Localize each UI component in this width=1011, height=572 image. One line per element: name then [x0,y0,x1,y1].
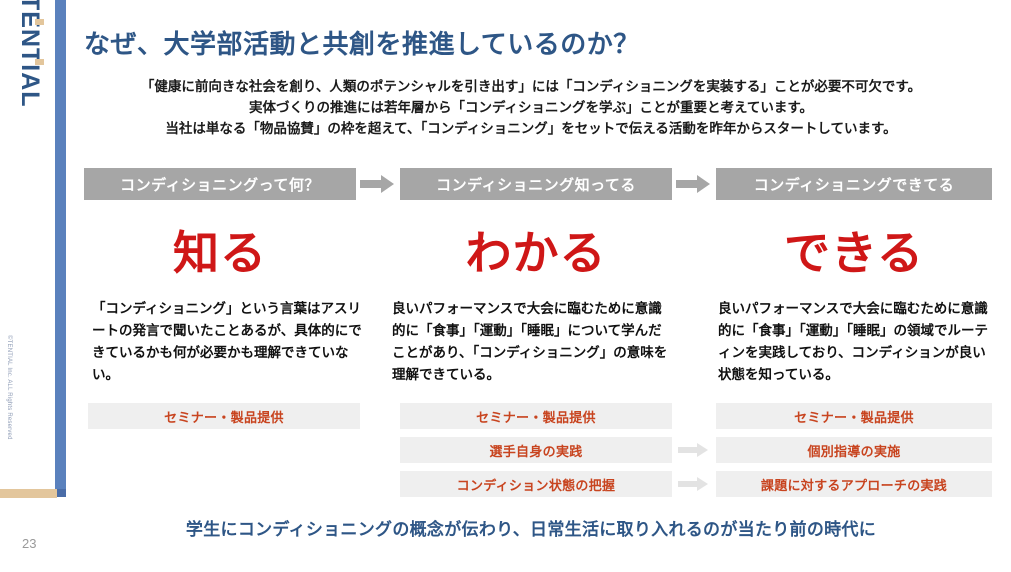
action-arrow-2-icon [678,477,708,491]
tential-logo: TENTIAL [12,0,48,91]
slide-canvas: TENTIAL ©TENTIAL Inc. ALL Rights Reserve… [0,0,1011,572]
action-box: 選手自身の実践 [400,437,672,463]
stage-bar-can-do: コンディショニングできてる [716,168,992,200]
action-box: コンディション状態の把握 [400,471,672,497]
stage-bar-know-what: コンディショニングって何？ [84,168,356,200]
conclusion-text: 学生にコンディショニングの概念が伝わり、日常生活に取り入れるのが当たり前の時代に [66,515,996,540]
column-heading-dekiru: できる [716,225,992,281]
lead-line: 当社は単なる「物品協賛」の枠を超えて、「コンディショニング」をセットで伝える活動… [66,118,996,139]
action-box-label: コンディション状態の把握 [457,475,616,494]
stage-bar-label: コンディショニングできてる [754,174,954,195]
column-heading-shiru: 知る [84,225,356,281]
column-heading-wakaru: わかる [400,225,672,281]
column-description-1: 「コンディショニング」という言葉はアスリートの発言で聞いたことあるが、具体的にで… [92,298,364,386]
lead-line: 「健康に前向きな社会を創り、人類のポテンシャルを引き出す」には「コンディショニン… [66,76,996,97]
action-box: セミナー・製品提供 [400,403,672,429]
page-title: なぜ、大学部活動と共創を推進しているのか？ [84,24,640,61]
action-box-label: セミナー・製品提供 [794,407,914,426]
stage-bar-label: コンディショニングって何？ [120,174,320,195]
logo-accent-mark-icon [35,19,44,25]
sidebar-tan-bar [0,489,57,498]
stage-arrow-2-icon [676,175,710,193]
lead-line: 実体づくりの推進には若年層から「コンディショニングを学ぶ」ことが重要と考えていま… [66,97,996,118]
action-box-label: 個別指導の実施 [807,441,900,460]
lead-paragraph: 「健康に前向きな社会を創り、人類のポテンシャルを引き出す」には「コンディショニン… [66,76,996,139]
column-description-2: 良いパフォーマンスで大会に臨むために意識的に「食事」「運動」「睡眠」について学ん… [392,298,670,386]
stage-bar-label: コンディショニング知ってる [436,174,636,195]
action-box: セミナー・製品提供 [88,403,360,429]
action-box-label: セミナー・製品提供 [476,407,596,426]
sidebar-blue-bar [55,0,66,497]
action-box-label: 課題に対するアプローチの実践 [761,475,947,494]
copyright-notice: ©TENTIAL Inc. ALL Rights Reserved [6,335,12,455]
action-box-label: 選手自身の実践 [489,441,582,460]
action-arrow-1-icon [678,443,708,457]
column-description-3: 良いパフォーマンスで大会に臨むために意識的に「食事」「運動」「睡眠」の領域でルー… [718,298,996,386]
page-number: 23 [22,536,36,551]
action-box: 課題に対するアプローチの実践 [716,471,992,497]
logo-accent-mark-2-icon [35,59,44,65]
action-box: 個別指導の実施 [716,437,992,463]
stage-bar-know: コンディショニング知ってる [400,168,672,200]
action-box: セミナー・製品提供 [716,403,992,429]
action-box-label: セミナー・製品提供 [164,407,284,426]
stage-arrow-1-icon [360,175,394,193]
logo-text: TENTIAL [12,0,48,91]
